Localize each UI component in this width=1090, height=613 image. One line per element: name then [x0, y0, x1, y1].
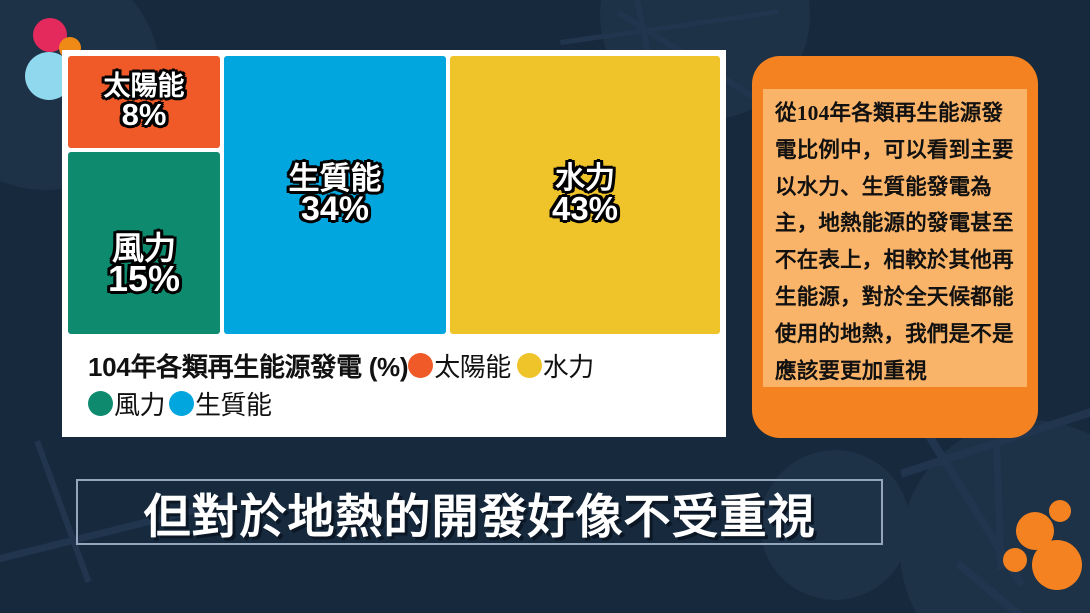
legend-row-first: 104年各類再生能源發電 (%) 太陽能 水力: [88, 346, 708, 384]
chart-legend: 104年各類再生能源發電 (%) 太陽能 水力 風力 生質能: [88, 346, 708, 422]
legend-item-solar[interactable]: 太陽能: [408, 347, 511, 384]
note-panel: 從104年各類再生能源發電比例中，可以看到主要以水力、生質能發電為主，地熱能源的…: [752, 56, 1038, 438]
treemap-cell-biomass-value: 34%: [289, 192, 382, 227]
legend-label-biomass: 生質能: [195, 385, 272, 422]
legend-dot-biomass-icon: [169, 391, 194, 416]
treemap-cell-hydro-value: 43%: [552, 192, 618, 226]
treemap-cell-biomass[interactable]: 生質能 34%: [224, 56, 446, 334]
legend-label-hydro: 水力: [543, 347, 594, 384]
treemap-cell-wind-label: 風力 15%: [108, 232, 180, 298]
deco-dot-orange-xs: [1003, 548, 1027, 572]
legend-dot-solar-icon: [408, 353, 433, 378]
deco-dot-orange-lg: [1032, 540, 1082, 590]
treemap-cell-hydro[interactable]: 水力 43%: [450, 56, 720, 334]
deco-dot-orange-sm: [1049, 500, 1071, 522]
legend-label-wind: 風力: [114, 385, 165, 422]
chart-title: 104年各類再生能源發電 (%): [88, 347, 408, 384]
treemap-cell-hydro-label: 水力 43%: [552, 164, 618, 225]
treemap-cell-solar-value: 8%: [104, 99, 185, 131]
legend-item-wind[interactable]: 風力: [88, 385, 165, 422]
legend-dot-wind-icon: [88, 391, 113, 416]
treemap-cell-biomass-label: 生質能 34%: [289, 163, 382, 226]
note-panel-inner: 從104年各類再生能源發電比例中，可以看到主要以水力、生質能發電為主，地熱能源的…: [763, 89, 1027, 387]
slide-root: 太陽能 8% 風力 15% 生質能 34% 水力 43%: [0, 0, 1090, 613]
treemap-cell-solar[interactable]: 太陽能 8%: [68, 56, 220, 148]
treemap-chart: 太陽能 8% 風力 15% 生質能 34% 水力 43%: [68, 56, 720, 334]
chart-card: 太陽能 8% 風力 15% 生質能 34% 水力 43%: [62, 50, 726, 437]
legend-dot-hydro-icon: [517, 353, 542, 378]
legend-item-hydro[interactable]: 水力: [517, 347, 594, 384]
note-panel-text: 從104年各類再生能源發電比例中，可以看到主要以水力、生質能發電為主，地熱能源的…: [775, 95, 1017, 389]
legend-row-second: 風力 生質能: [88, 384, 708, 422]
legend-label-solar: 太陽能: [434, 347, 511, 384]
treemap-cell-solar-label: 太陽能 8%: [104, 73, 185, 130]
treemap-cell-wind-value: 15%: [108, 261, 180, 298]
caption-text: 但對於地熱的開發好像不受重視: [144, 478, 816, 547]
treemap-cell-wind[interactable]: 風力 15%: [68, 152, 220, 334]
legend-item-biomass[interactable]: 生質能: [169, 385, 272, 422]
caption-box: 但對於地熱的開發好像不受重視: [76, 479, 883, 545]
